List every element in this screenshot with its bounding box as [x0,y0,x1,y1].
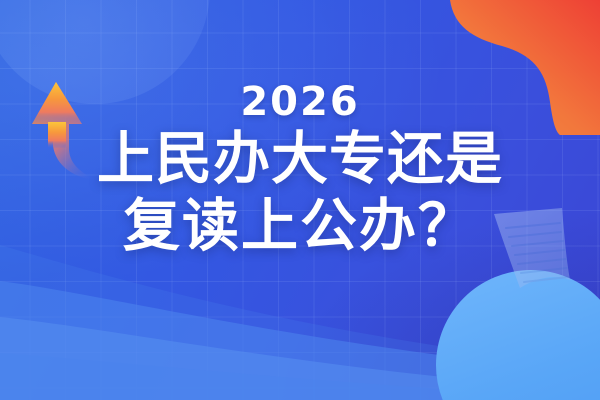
headline-block: 2026 上民办大专还是 复读上公办？ [0,78,600,260]
poster-canvas: 2026 上民办大专还是 复读上公办？ [0,0,600,400]
headline-line-2: 复读上公办？ [0,193,600,260]
year-label: 2026 [0,78,600,126]
headline-line-1: 上民办大专还是 [0,126,600,193]
